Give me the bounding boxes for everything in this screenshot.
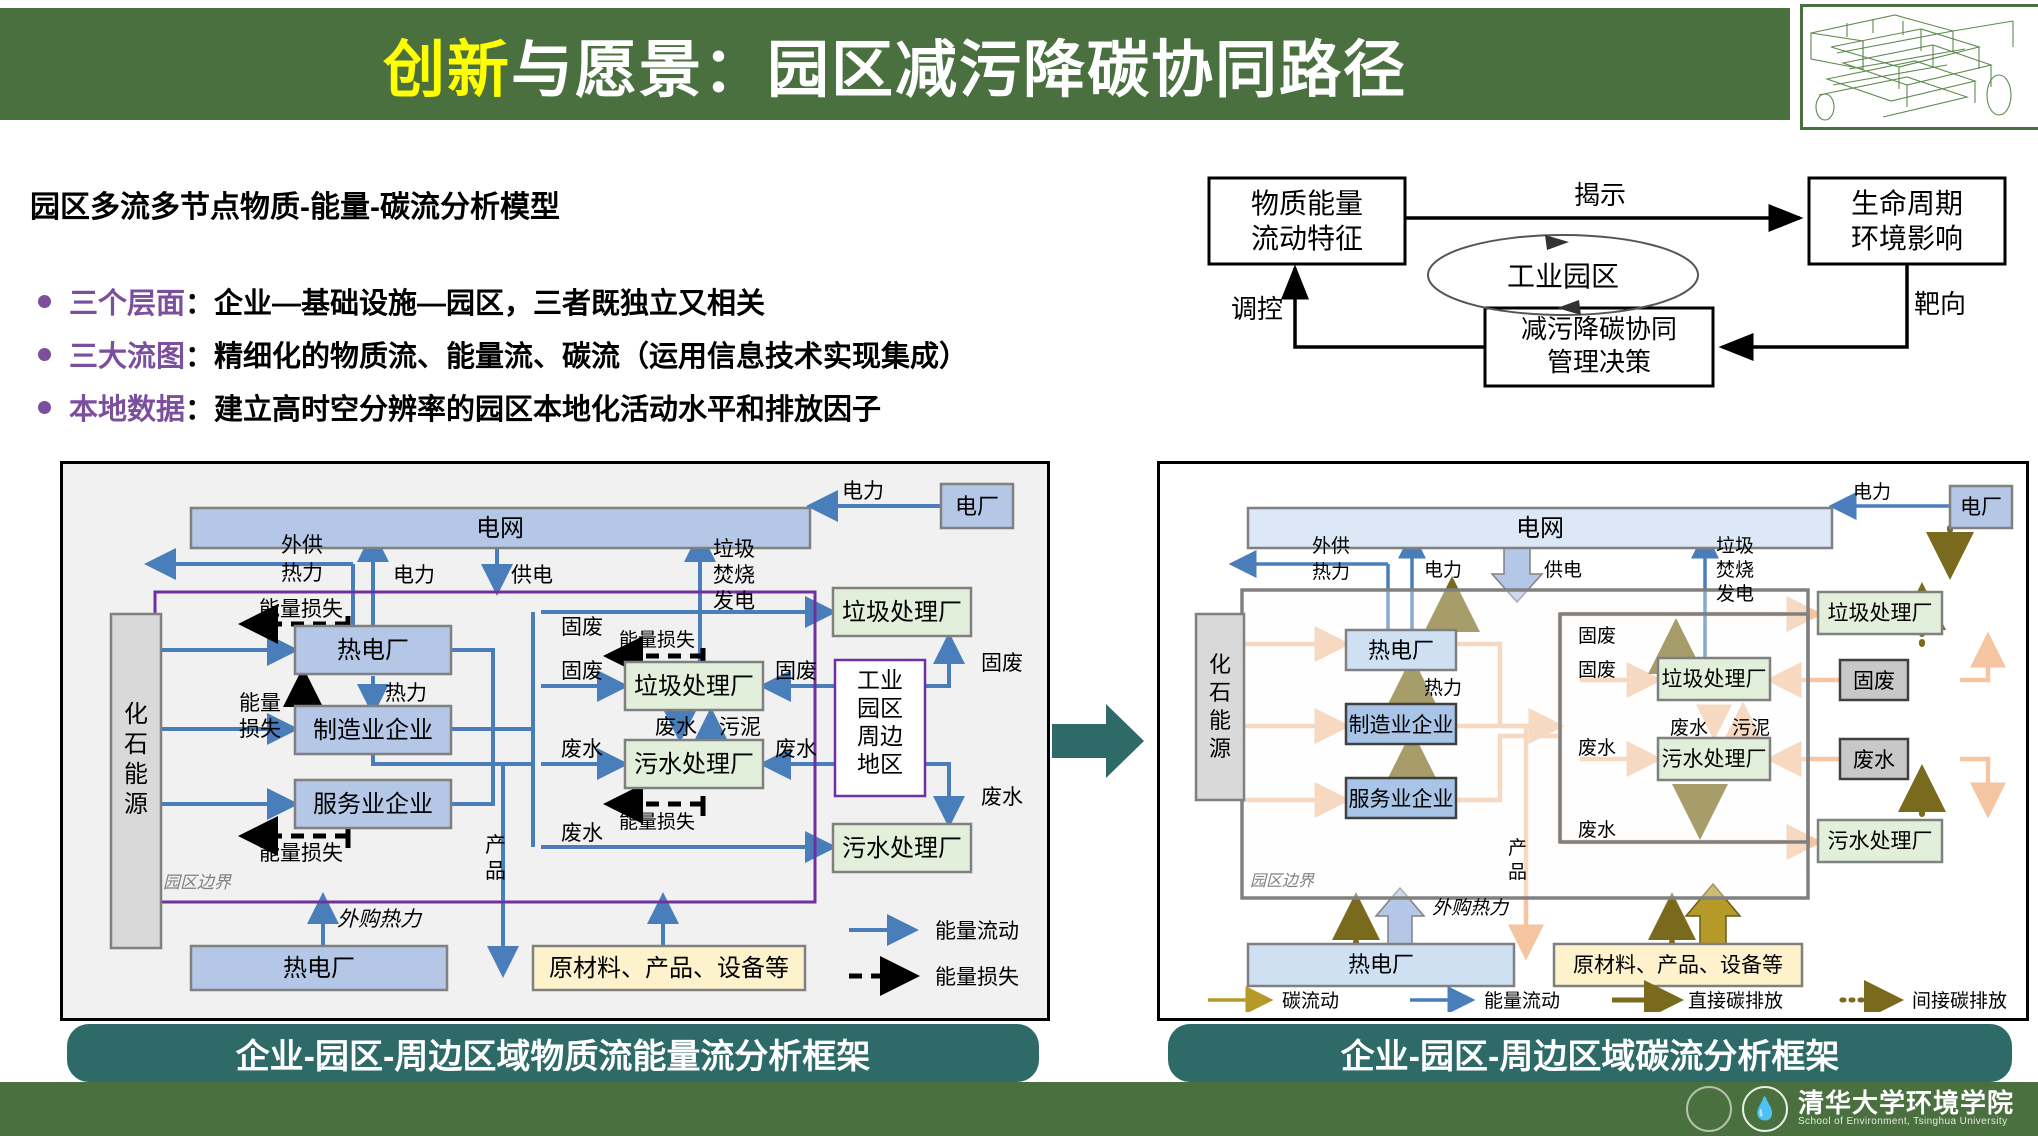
right-node-solid-waste-src: 固废 <box>1853 670 1895 693</box>
left-label-extheat-1: 外供 <box>281 534 323 557</box>
left-node-service: 服务业企业 <box>313 791 433 818</box>
left-legend-label-1: 能量损失 <box>935 966 1019 989</box>
right-label-incin-2: 焚烧 <box>1716 559 1754 581</box>
right-label-power-supply: 供电 <box>1544 559 1582 581</box>
bullet-dot-icon <box>38 401 51 414</box>
material-energy-flow-panel: 园区边界 电网 电厂 热电厂 制造业企业 服务业企业 化 石 能 源 垃圾处理厂… <box>60 461 1050 1021</box>
building-sketch-icon <box>1800 4 2038 130</box>
bullet-rest-0: ：企业—基础设施—园区，三者既独立又相关 <box>185 280 765 322</box>
loop-node-material-l1: 物质能量 <box>1251 188 1363 219</box>
right-node-chp-out: 热电厂 <box>1348 952 1414 977</box>
left-node-materials: 原材料、产品、设备等 <box>549 955 789 982</box>
right-label-electricity-ext: 电力 <box>1853 481 1891 503</box>
left-panel-caption: 企业-园区-周边区域物质流能量流分析框架 <box>67 1024 1039 1082</box>
left-node-chp-in: 热电厂 <box>337 637 409 664</box>
right-node-materials: 原材料、产品、设备等 <box>1573 954 1783 977</box>
footer-institution-cn: 清华大学环境学院 <box>1798 1090 2014 1117</box>
left-node-sewage-plant-in: 污水处理厂 <box>634 751 754 778</box>
left-label-ww-3: 废水 <box>981 786 1023 809</box>
bullet-dot-icon <box>38 295 51 308</box>
loop-node-lifecycle-l1: 生命周期 <box>1851 188 1963 219</box>
left-label-energyloss-3: 能量损失 <box>619 629 695 651</box>
svg-text:周边: 周边 <box>857 723 903 749</box>
left-label-sw-3: 固废 <box>775 660 817 683</box>
bullet-key-0: 三个层面 <box>69 280 185 322</box>
right-label-extheat-1: 外供 <box>1312 535 1350 557</box>
left-node-power-plant-ext: 电厂 <box>955 494 999 519</box>
left-node-waste-plant-in: 垃圾处理厂 <box>634 673 754 700</box>
loop-node-decision-l1: 减污降碳协同 <box>1521 314 1677 344</box>
model-heading: 园区多流多节点物质-能量-碳流分析模型 <box>30 182 560 226</box>
right-node-power-plant-ext: 电厂 <box>1960 496 2002 519</box>
carbon-flow-diagram: 园区边界 电网 电厂 热电厂 制造业企业 服务业企业 化 石 能 源 垃圾处理厂… <box>1160 464 2020 1012</box>
left-label-purchased-heat: 外购热力 <box>337 908 423 931</box>
right-node-chp-in: 热电厂 <box>1368 638 1434 663</box>
loop-node-lifecycle-l2: 环境影响 <box>1851 223 1963 254</box>
left-boundary-label: 园区边界 <box>163 873 232 892</box>
left-legend-label-0: 能量流动 <box>935 920 1019 943</box>
left-node-fossil-energy: 化 <box>124 701 148 728</box>
bullet-key-1: 三大流图 <box>69 333 185 375</box>
right-node-manufacturing: 制造业企业 <box>1349 714 1454 737</box>
carbon-flow-panel: 园区边界 电网 电厂 热电厂 制造业企业 服务业企业 化 石 能 源 垃圾处理厂… <box>1157 461 2029 1021</box>
feedback-loop-diagram: 物质能量 流动特征 生命周期 环境影响 减污降碳协同 管理决策 揭示 靶向 调控… <box>1195 168 2025 388</box>
right-label-sw-2: 固废 <box>1578 659 1616 681</box>
left-label-sw-1: 固废 <box>561 616 603 639</box>
left-label-incin-2: 焚烧 <box>713 564 755 587</box>
right-label-product-2: 品 <box>1508 862 1527 883</box>
right-node-waste-plant-out: 垃圾处理厂 <box>1828 602 1933 625</box>
left-node-sewage-plant-out: 污水处理厂 <box>842 835 962 862</box>
right-label-sw-1: 固废 <box>1578 625 1616 647</box>
right-legend-label-1: 能量流动 <box>1484 990 1560 1012</box>
footer-logo: 💧 清华大学环境学院 School of Environment, Tsingh… <box>1686 1086 2014 1132</box>
right-label-incin-3: 发电 <box>1716 583 1754 605</box>
left-node-grid: 电网 <box>476 515 524 542</box>
right-label-ww-2: 废水 <box>1578 819 1616 841</box>
bullet-item-2: 本地数据 ：建立高时空分辨率的园区本地化活动水平和排放因子 <box>38 386 881 428</box>
bullet-item-0: 三个层面 ：企业—基础设施—园区，三者既独立又相关 <box>38 280 765 322</box>
tsinghua-emblem-icon: 💧 <box>1742 1086 1788 1132</box>
left-label-electricity: 电力 <box>393 564 435 587</box>
right-boundary-label: 园区边界 <box>1250 872 1315 890</box>
svg-text:能: 能 <box>1209 708 1231 733</box>
svg-text:地区: 地区 <box>857 751 903 777</box>
left-label-incin-3: 发电 <box>713 590 755 613</box>
page-title-rest: 与愿景：园区减污降碳协同路径 <box>511 36 1407 105</box>
left-label-energyloss-2: 能量损失 <box>259 842 343 865</box>
svg-text:园区: 园区 <box>857 695 903 721</box>
right-node-grid: 电网 <box>1516 515 1564 542</box>
right-panel-caption: 企业-园区-周边区域碳流分析框架 <box>1168 1024 2012 1082</box>
right-node-fossil-energy: 化 <box>1209 652 1231 677</box>
loop-edge-reveal: 揭示 <box>1574 180 1626 210</box>
loop-center-label: 工业园区 <box>1507 261 1619 292</box>
left-label-sludge: 污泥 <box>719 716 761 739</box>
left-label-product-1: 产 <box>485 834 506 857</box>
right-label-ww-3: 废水 <box>1670 717 1708 739</box>
left-label-sw-2: 固废 <box>561 660 603 683</box>
left-node-chp-out: 热电厂 <box>283 955 355 982</box>
svg-text:石: 石 <box>1209 680 1231 705</box>
left-label-ww-5: 废水 <box>655 716 697 739</box>
right-label-heat: 热力 <box>1424 677 1462 699</box>
right-node-waste-plant-in: 垃圾处理厂 <box>1662 668 1767 691</box>
tsinghua-seal-icon <box>1686 1086 1732 1132</box>
bullet-rest-1: ：精细化的物质流、能量流、碳流（运用信息技术实现集成） <box>185 333 968 375</box>
left-label-heat: 热力 <box>385 682 427 705</box>
bullet-rest-2: ：建立高时空分辨率的园区本地化活动水平和排放因子 <box>185 386 881 428</box>
svg-text:源: 源 <box>124 791 148 818</box>
loop-node-decision-l2: 管理决策 <box>1547 347 1651 377</box>
left-label-energyloss-4: 能量损失 <box>619 811 695 833</box>
loop-edge-target: 靶向 <box>1914 289 1966 319</box>
left-label-ww-1: 废水 <box>561 738 603 761</box>
right-label-purchased-heat: 外购热力 <box>1432 898 1510 919</box>
left-label-extheat-2: 热力 <box>281 562 323 585</box>
right-legend-label-2: 直接碳排放 <box>1688 990 1783 1012</box>
right-legend-label-3: 间接碳排放 <box>1912 990 2007 1012</box>
left-label-energyloss-5a: 能量 <box>239 692 281 715</box>
right-label-sludge: 污泥 <box>1732 717 1770 739</box>
right-legend-label-0: 碳流动 <box>1282 990 1339 1012</box>
svg-text:能: 能 <box>124 761 148 788</box>
right-node-service: 服务业企业 <box>1349 788 1454 811</box>
left-label-power-supply: 供电 <box>511 564 553 587</box>
svg-text:源: 源 <box>1209 736 1231 761</box>
left-node-waste-plant-out: 垃圾处理厂 <box>842 599 962 626</box>
left-label-ww-2: 废水 <box>775 738 817 761</box>
left-label-ww-4: 废水 <box>561 822 603 845</box>
right-label-product-1: 产 <box>1508 837 1527 859</box>
right-label-incin-1: 垃圾 <box>1716 535 1754 557</box>
right-node-sewage-plant-out: 污水处理厂 <box>1828 830 1933 853</box>
right-node-waste-water-src: 废水 <box>1853 749 1895 772</box>
left-label-energyloss-5b: 损失 <box>239 718 281 741</box>
svg-text:石: 石 <box>124 731 148 758</box>
right-label-extheat-2: 热力 <box>1312 561 1350 583</box>
bullet-key-2: 本地数据 <box>69 386 185 428</box>
footer-institution-en: School of Environment, Tsinghua Universi… <box>1798 1117 2014 1128</box>
left-label-incin-1: 垃圾 <box>713 538 755 561</box>
material-energy-flow-diagram: 园区边界 电网 电厂 热电厂 制造业企业 服务业企业 化 石 能 源 垃圾处理厂… <box>63 464 1041 1012</box>
page-title: 创新与愿景：园区减污降碳协同路径 <box>383 19 1407 109</box>
right-label-electricity: 电力 <box>1424 559 1462 581</box>
header-banner: 创新与愿景：园区减污降碳协同路径 <box>0 8 1790 120</box>
left-label-sw-4: 固废 <box>981 652 1023 675</box>
left-node-surrounding: 工业 <box>857 667 903 693</box>
loop-node-material-l2: 流动特征 <box>1251 223 1363 254</box>
right-label-ww-1: 废水 <box>1578 737 1616 759</box>
bullet-dot-icon <box>38 348 51 361</box>
loop-edge-regulate: 调控 <box>1231 294 1283 324</box>
left-label-electricity-ext: 电力 <box>842 480 884 503</box>
left-label-energyloss-1: 能量损失 <box>259 598 343 621</box>
left-label-product-2: 品 <box>485 860 506 883</box>
bullet-item-1: 三大流图 ：精细化的物质流、能量流、碳流（运用信息技术实现集成） <box>38 333 968 375</box>
transition-arrow-icon <box>1050 698 1146 784</box>
left-node-manufacturing: 制造业企业 <box>313 717 433 744</box>
page-title-highlight: 创新 <box>383 36 511 105</box>
right-node-sewage-plant-in: 污水处理厂 <box>1662 748 1767 771</box>
